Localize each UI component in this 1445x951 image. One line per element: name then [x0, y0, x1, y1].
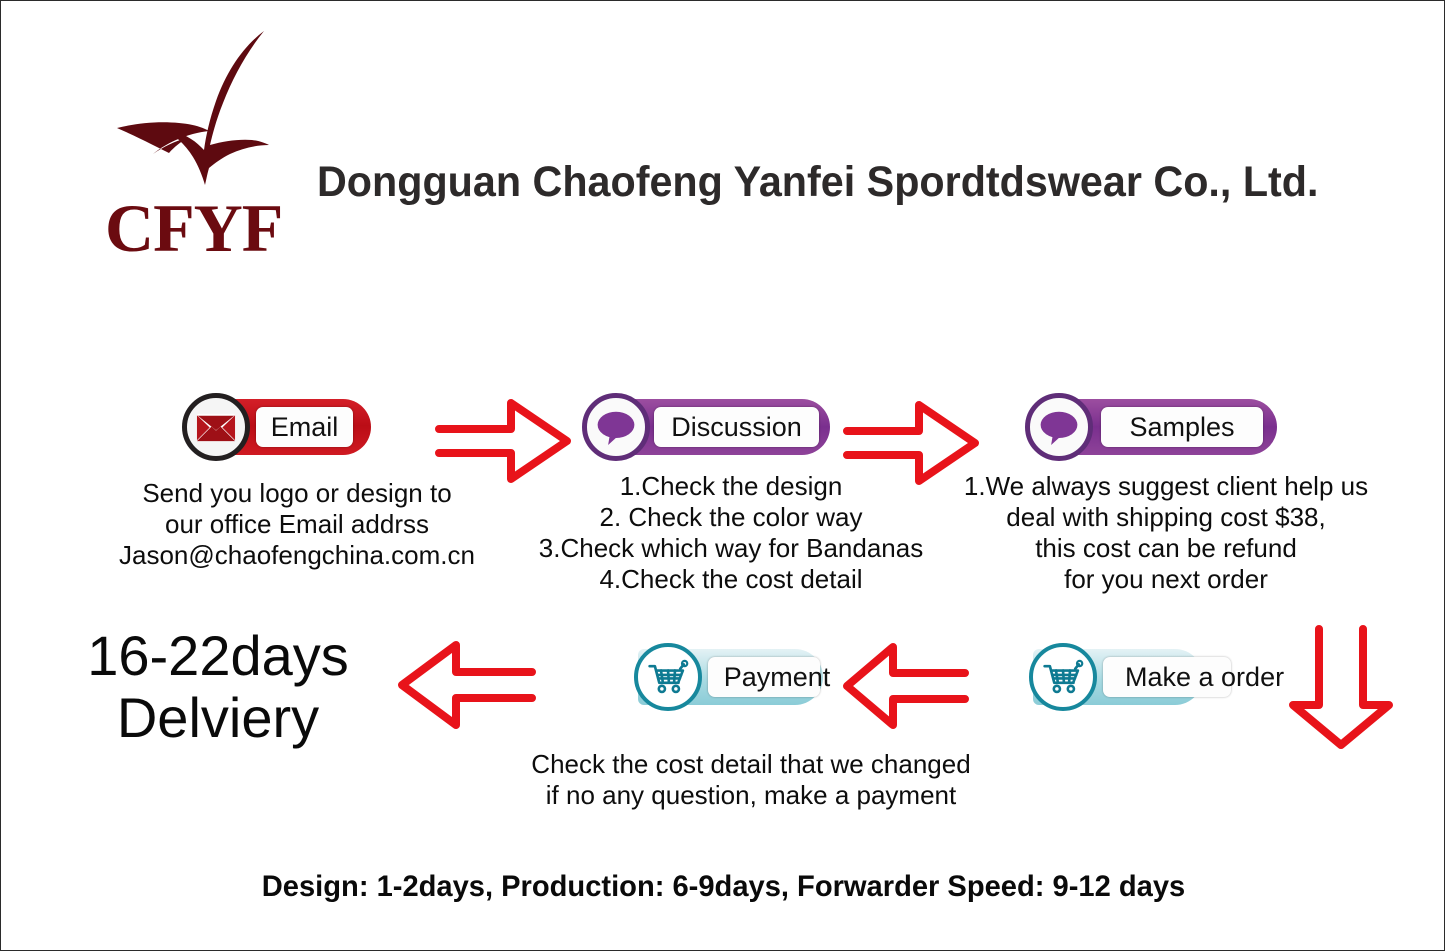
- step-label-samples: Samples: [1101, 407, 1263, 447]
- arrow-left-icon: [841, 641, 971, 731]
- arrow-right-icon: [433, 399, 573, 484]
- arrow-left-icon: [396, 639, 538, 731]
- arrow-down-icon: [1286, 623, 1396, 751]
- step-description-email: Send you logo or design to our office Em…: [97, 478, 497, 571]
- step-badge-payment: Payment: [638, 649, 823, 705]
- step-description-discussion: 1.Check the design 2. Check the color wa…: [531, 471, 931, 595]
- delivery-time-callout: 16-22days Delviery: [43, 625, 393, 749]
- process-flow-infographic: CFYF Dongguan Chaofeng Yanfei Spordtdswe…: [0, 0, 1445, 951]
- envelope-icon: [182, 393, 250, 461]
- step-badge-make-order: Make a order: [1033, 649, 1203, 705]
- arrow-right-icon: [841, 401, 981, 486]
- step-badge-samples: Samples: [1029, 399, 1277, 455]
- schedule-footer: Design: 1-2days, Production: 6-9days, Fo…: [23, 867, 1425, 907]
- speech-bubble-icon: [1025, 393, 1093, 461]
- step-label-discussion: Discussion: [654, 407, 819, 447]
- swallow-bird-logo-icon: [109, 23, 299, 188]
- step-badge-email: Email: [186, 399, 371, 455]
- speech-bubble-icon: [582, 393, 650, 461]
- step-description-payment: Check the cost detail that we changed if…: [511, 749, 991, 811]
- page-title: Dongguan Chaofeng Yanfei Spordtdswear Co…: [317, 155, 1335, 209]
- step-label-email: Email: [256, 407, 353, 447]
- shopping-cart-icon: [1029, 643, 1097, 711]
- step-description-samples: 1.We always suggest client help us deal …: [946, 471, 1386, 595]
- step-label-make-order: Make a order: [1103, 657, 1303, 697]
- shopping-cart-icon: [634, 643, 702, 711]
- step-badge-discussion: Discussion: [586, 399, 830, 455]
- step-label-payment: Payment: [708, 657, 838, 697]
- company-wordmark: CFYF: [105, 193, 305, 263]
